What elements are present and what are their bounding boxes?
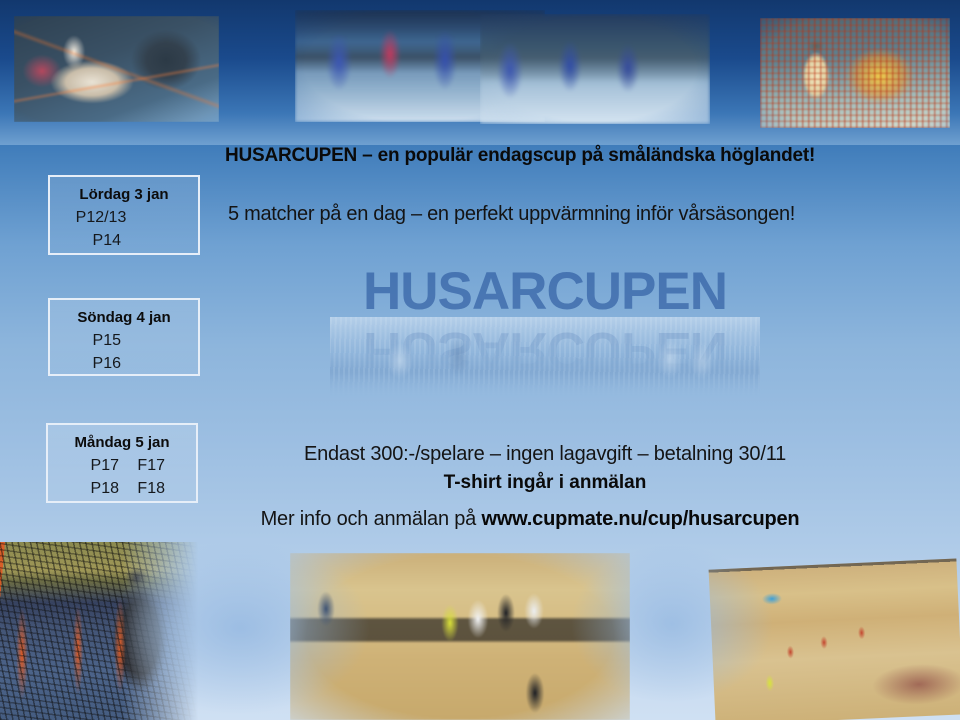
watermark-reflection-text: HUSARCUPEN: [330, 320, 760, 380]
schedule-box-monday: Måndag 5 jan P17F17 P18F18: [46, 423, 198, 503]
match-action-photo: [290, 553, 630, 720]
schedule-class-left: P17: [79, 454, 119, 477]
schedule-row: P17F17: [48, 454, 196, 477]
poster-slide: HUSARCUPEN HUSARCUPEN HUSARCUPEN – en po…: [0, 0, 960, 720]
price-text: Endast 300:-/spelare – ingen lagavgift –…: [215, 443, 875, 466]
watermark-text: HUSARCUPEN: [330, 262, 760, 322]
watermark-background-photo: [330, 317, 760, 397]
schedule-row: P14: [50, 229, 198, 252]
schedule-day-label: Lördag 3 jan: [50, 184, 198, 206]
schedule-box-saturday: Lördag 3 jan P12/13 P14: [48, 175, 200, 255]
schedule-row: P16: [50, 352, 198, 375]
schedule-class-left: P18: [79, 477, 119, 500]
page-title: HUSARCUPEN – en populär endagscup på små…: [225, 145, 945, 167]
schedule-class-left: P12/13: [76, 206, 127, 229]
schedule-class-left: P16: [81, 352, 121, 375]
goalkeeper-save-photo: [14, 16, 219, 122]
schedule-day-label: Söndag 4 jan: [50, 307, 198, 329]
bottom-photo-strip: [0, 528, 960, 720]
subtitle-text: 5 matcher på en dag – en perfekt uppvärm…: [228, 203, 948, 226]
schedule-box-sunday: Söndag 4 jan P15 P16: [48, 298, 200, 376]
schedule-class-right: F17: [119, 454, 165, 477]
schedule-day-label: Måndag 5 jan: [48, 432, 196, 454]
registration-url[interactable]: www.cupmate.nu/cup/husarcupen: [481, 508, 799, 530]
watermark-logo: HUSARCUPEN HUSARCUPEN: [330, 262, 760, 397]
schedule-row: P12/13: [50, 206, 198, 229]
goalkeeper-at-goal-photo: [760, 18, 950, 128]
goalkeeper-kneeling-photo: [0, 542, 198, 720]
schedule-class-right: F18: [119, 477, 165, 500]
schedule-class-left: P14: [81, 229, 121, 252]
more-info-label: Mer info och anmälan på: [261, 508, 477, 530]
players-running-photo: [480, 14, 710, 124]
schedule-row: P15: [50, 329, 198, 352]
schedule-row: P18F18: [48, 477, 196, 500]
tshirt-text: T-shirt ingår i anmälan: [215, 472, 875, 494]
sports-hall-overview-photo: [709, 558, 960, 720]
schedule-class-left: P15: [81, 329, 121, 352]
top-photo-banner: [0, 0, 960, 145]
